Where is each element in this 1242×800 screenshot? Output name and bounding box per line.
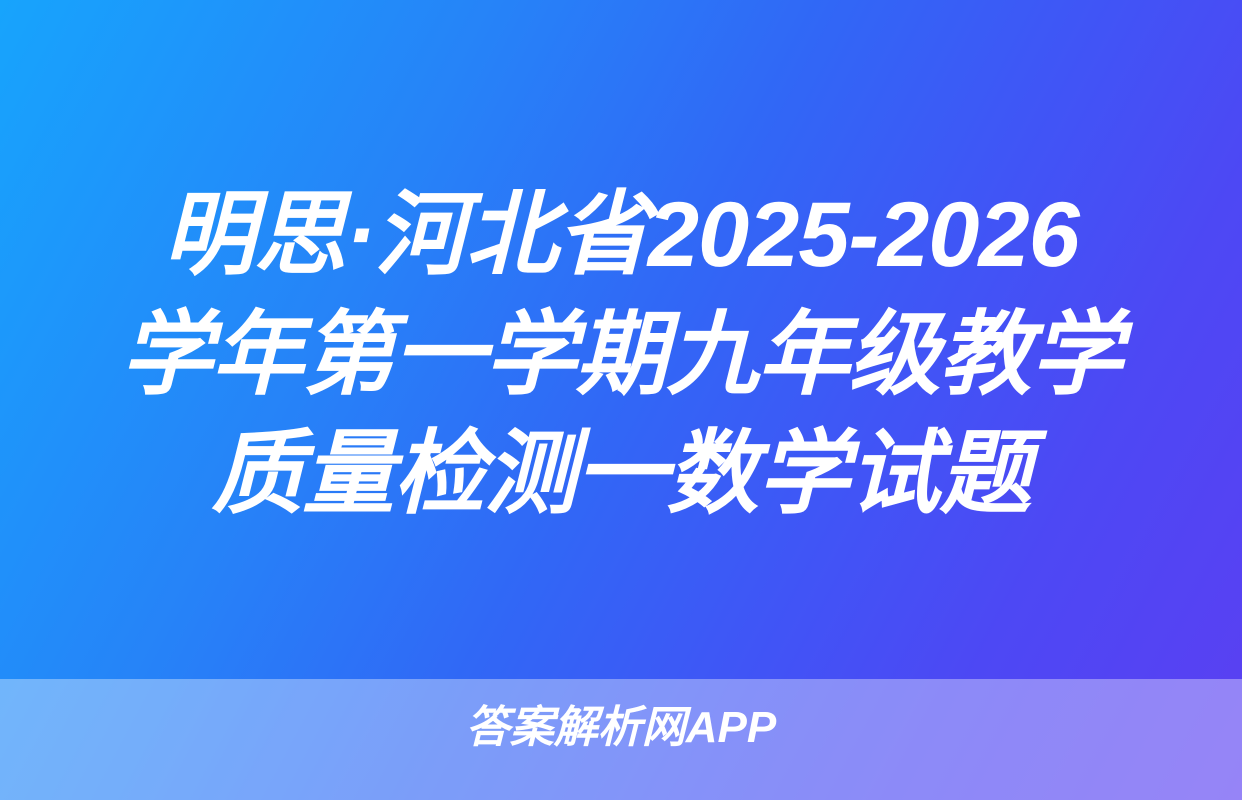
exam-cover-banner: 明思·河北省2025-2026 学年第一学期九年级教学 质量检测一数学试题 答案…: [0, 0, 1242, 800]
page-title: 明思·河北省2025-2026 学年第一学期九年级教学 质量检测一数学试题: [0, 176, 1242, 535]
title-line-3: 质量检测一数学试题: [0, 415, 1242, 535]
title-line-2: 学年第一学期九年级教学: [0, 296, 1242, 416]
title-line-1: 明思·河北省2025-2026: [0, 176, 1242, 296]
watermark-app-label: 答案解析网APP: [0, 706, 1242, 750]
